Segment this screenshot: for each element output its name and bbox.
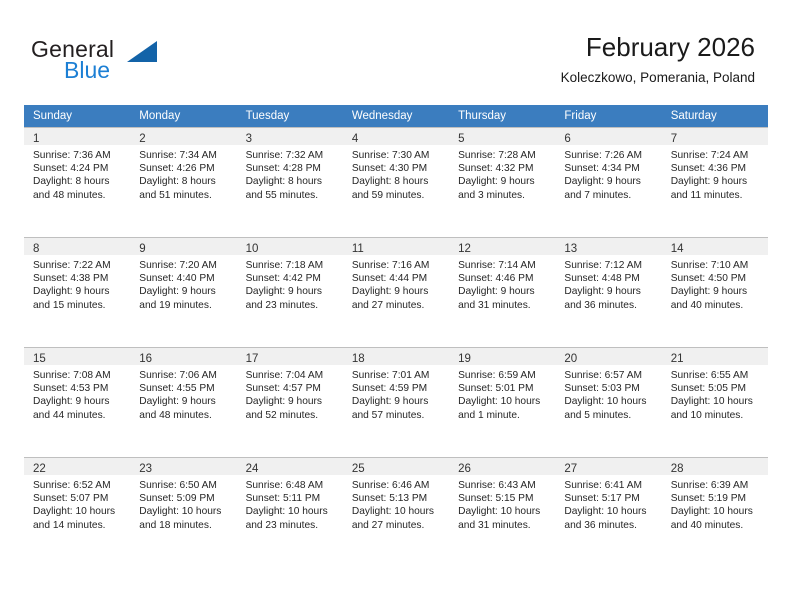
daylight-text-line1: Daylight: 9 hours (352, 395, 445, 408)
daylight-text-line1: Daylight: 9 hours (139, 285, 232, 298)
sunset-text: Sunset: 4:30 PM (352, 162, 445, 175)
daylight-text-line2: and 7 minutes. (564, 189, 657, 202)
sunset-text: Sunset: 4:36 PM (671, 162, 764, 175)
day-number: 23 (139, 463, 152, 475)
day-number: 16 (139, 353, 152, 365)
weekday-header-tuesday: Tuesday (237, 105, 343, 127)
day-number: 6 (564, 133, 570, 145)
day-number: 9 (139, 243, 145, 255)
sunset-text: Sunset: 4:53 PM (33, 382, 126, 395)
sunrise-text: Sunrise: 6:41 AM (564, 479, 657, 492)
sunset-text: Sunset: 4:48 PM (564, 272, 657, 285)
daylight-text-line1: Daylight: 10 hours (352, 505, 445, 518)
sunrise-text: Sunrise: 7:32 AM (246, 149, 339, 162)
sunset-text: Sunset: 4:40 PM (139, 272, 232, 285)
weekday-header-wednesday: Wednesday (343, 105, 449, 127)
weekday-header-monday: Monday (130, 105, 236, 127)
day-number: 8 (33, 243, 39, 255)
calendar-day-cell[interactable]: 21 Sunrise: 6:55 AM Sunset: 5:05 PM Dayl… (662, 347, 768, 445)
daylight-text-line2: and 44 minutes. (33, 409, 126, 422)
calendar-day-cell[interactable]: 14 Sunrise: 7:10 AM Sunset: 4:50 PM Dayl… (662, 237, 768, 335)
day-number: 5 (458, 133, 464, 145)
sunset-text: Sunset: 4:38 PM (33, 272, 126, 285)
calendar-week-row: 15 Sunrise: 7:08 AM Sunset: 4:53 PM Dayl… (24, 347, 768, 445)
calendar-day-cell[interactable]: 20 Sunrise: 6:57 AM Sunset: 5:03 PM Dayl… (555, 347, 661, 445)
sunrise-text: Sunrise: 6:59 AM (458, 369, 551, 382)
daylight-text-line2: and 36 minutes. (564, 519, 657, 532)
sunset-text: Sunset: 4:26 PM (139, 162, 232, 175)
sunset-text: Sunset: 5:01 PM (458, 382, 551, 395)
day-number: 3 (246, 133, 252, 145)
calendar-day-cell[interactable]: 8 Sunrise: 7:22 AM Sunset: 4:38 PM Dayli… (24, 237, 130, 335)
day-number: 2 (139, 133, 145, 145)
calendar-day-cell[interactable]: 7 Sunrise: 7:24 AM Sunset: 4:36 PM Dayli… (662, 127, 768, 225)
sunrise-text: Sunrise: 6:55 AM (671, 369, 764, 382)
calendar-page: General Blue February 2026 Koleczkowo, P… (0, 0, 792, 612)
week-spacer-row (24, 445, 768, 457)
sunrise-text: Sunrise: 7:34 AM (139, 149, 232, 162)
daylight-text-line2: and 48 minutes. (33, 189, 126, 202)
brand-name-blue: Blue (64, 57, 110, 84)
day-number: 22 (33, 463, 46, 475)
location-subtitle: Koleczkowo, Pomerania, Poland (561, 70, 755, 86)
sunrise-text: Sunrise: 6:57 AM (564, 369, 657, 382)
daylight-text-line1: Daylight: 10 hours (139, 505, 232, 518)
sunrise-text: Sunrise: 7:12 AM (564, 259, 657, 272)
day-number: 28 (671, 463, 684, 475)
daylight-text-line2: and 27 minutes. (352, 299, 445, 312)
calendar-week-row: 1 Sunrise: 7:36 AM Sunset: 4:24 PM Dayli… (24, 127, 768, 225)
calendar-day-cell[interactable]: 24 Sunrise: 6:48 AM Sunset: 5:11 PM Dayl… (237, 457, 343, 555)
daylight-text-line1: Daylight: 9 hours (564, 175, 657, 188)
sunrise-text: Sunrise: 7:06 AM (139, 369, 232, 382)
daylight-text-line2: and 52 minutes. (246, 409, 339, 422)
daylight-text-line1: Daylight: 8 hours (33, 175, 126, 188)
sunset-text: Sunset: 5:03 PM (564, 382, 657, 395)
week-spacer-row (24, 335, 768, 347)
sunset-text: Sunset: 4:57 PM (246, 382, 339, 395)
daylight-text-line2: and 48 minutes. (139, 409, 232, 422)
sunset-text: Sunset: 4:50 PM (671, 272, 764, 285)
sunset-text: Sunset: 5:19 PM (671, 492, 764, 505)
day-number: 17 (246, 353, 259, 365)
daylight-text-line1: Daylight: 10 hours (33, 505, 126, 518)
calendar-week-row: 22 Sunrise: 6:52 AM Sunset: 5:07 PM Dayl… (24, 457, 768, 555)
daylight-text-line2: and 11 minutes. (671, 189, 764, 202)
sunrise-text: Sunrise: 7:01 AM (352, 369, 445, 382)
daylight-text-line2: and 19 minutes. (139, 299, 232, 312)
sunset-text: Sunset: 4:55 PM (139, 382, 232, 395)
daylight-text-line2: and 57 minutes. (352, 409, 445, 422)
sunset-text: Sunset: 5:13 PM (352, 492, 445, 505)
daylight-text-line1: Daylight: 9 hours (671, 285, 764, 298)
sunrise-text: Sunrise: 7:36 AM (33, 149, 126, 162)
sunset-text: Sunset: 4:42 PM (246, 272, 339, 285)
day-number: 27 (564, 463, 577, 475)
day-number: 13 (564, 243, 577, 255)
day-number: 1 (33, 133, 39, 145)
sunset-text: Sunset: 5:17 PM (564, 492, 657, 505)
calendar-day-cell[interactable]: 1 Sunrise: 7:36 AM Sunset: 4:24 PM Dayli… (24, 127, 130, 225)
daylight-text-line2: and 1 minute. (458, 409, 551, 422)
daylight-text-line1: Daylight: 10 hours (671, 505, 764, 518)
daylight-text-line2: and 36 minutes. (564, 299, 657, 312)
daylight-text-line2: and 31 minutes. (458, 299, 551, 312)
daylight-text-line2: and 40 minutes. (671, 519, 764, 532)
calendar-day-cell[interactable]: 11 Sunrise: 7:16 AM Sunset: 4:44 PM Dayl… (343, 237, 449, 335)
title-block: February 2026 Koleczkowo, Pomerania, Pol… (561, 32, 755, 86)
daylight-text-line1: Daylight: 9 hours (33, 395, 126, 408)
sunrise-text: Sunrise: 7:08 AM (33, 369, 126, 382)
sunset-text: Sunset: 4:44 PM (352, 272, 445, 285)
daylight-text-line2: and 51 minutes. (139, 189, 232, 202)
weekday-header-friday: Friday (555, 105, 661, 127)
sunset-text: Sunset: 5:15 PM (458, 492, 551, 505)
daylight-text-line1: Daylight: 10 hours (458, 505, 551, 518)
daylight-text-line1: Daylight: 9 hours (671, 175, 764, 188)
daylight-text-line2: and 23 minutes. (246, 519, 339, 532)
sunrise-text: Sunrise: 7:22 AM (33, 259, 126, 272)
daylight-text-line1: Daylight: 8 hours (352, 175, 445, 188)
sunrise-text: Sunrise: 6:43 AM (458, 479, 551, 492)
daylight-text-line2: and 59 minutes. (352, 189, 445, 202)
day-number: 26 (458, 463, 471, 475)
weekday-header-thursday: Thursday (449, 105, 555, 127)
calendar-day-cell[interactable]: 3 Sunrise: 7:32 AM Sunset: 4:28 PM Dayli… (237, 127, 343, 225)
triangle-icon (127, 41, 157, 62)
daylight-text-line1: Daylight: 9 hours (564, 285, 657, 298)
day-number: 19 (458, 353, 471, 365)
day-number: 14 (671, 243, 684, 255)
daylight-text-line1: Daylight: 9 hours (33, 285, 126, 298)
daylight-text-line1: Daylight: 9 hours (458, 285, 551, 298)
daylight-text-line2: and 14 minutes. (33, 519, 126, 532)
daylight-text-line2: and 5 minutes. (564, 409, 657, 422)
day-number: 7 (671, 133, 677, 145)
daylight-text-line1: Daylight: 9 hours (352, 285, 445, 298)
sunset-text: Sunset: 5:09 PM (139, 492, 232, 505)
sunrise-text: Sunrise: 7:20 AM (139, 259, 232, 272)
calendar-day-cell[interactable]: 28 Sunrise: 6:39 AM Sunset: 5:19 PM Dayl… (662, 457, 768, 555)
calendar-day-cell[interactable]: 23 Sunrise: 6:50 AM Sunset: 5:09 PM Dayl… (130, 457, 236, 555)
sunrise-text: Sunrise: 7:24 AM (671, 149, 764, 162)
sunrise-text: Sunrise: 6:48 AM (246, 479, 339, 492)
daylight-text-line1: Daylight: 10 hours (564, 395, 657, 408)
day-number: 12 (458, 243, 471, 255)
calendar-day-cell[interactable]: 16 Sunrise: 7:06 AM Sunset: 4:55 PM Dayl… (130, 347, 236, 445)
week-spacer (24, 335, 768, 347)
calendar-day-cell[interactable]: 26 Sunrise: 6:43 AM Sunset: 5:15 PM Dayl… (449, 457, 555, 555)
day-number: 4 (352, 133, 358, 145)
calendar-day-cell[interactable]: 17 Sunrise: 7:04 AM Sunset: 4:57 PM Dayl… (237, 347, 343, 445)
sunrise-text: Sunrise: 7:16 AM (352, 259, 445, 272)
daylight-text-line2: and 18 minutes. (139, 519, 232, 532)
sunrise-text: Sunrise: 7:14 AM (458, 259, 551, 272)
daylight-text-line2: and 10 minutes. (671, 409, 764, 422)
day-number: 20 (564, 353, 577, 365)
sunrise-text: Sunrise: 6:39 AM (671, 479, 764, 492)
sunset-text: Sunset: 4:46 PM (458, 272, 551, 285)
calendar-day-cell[interactable]: 10 Sunrise: 7:18 AM Sunset: 4:42 PM Dayl… (237, 237, 343, 335)
daylight-text-line1: Daylight: 10 hours (564, 505, 657, 518)
sunset-text: Sunset: 4:34 PM (564, 162, 657, 175)
daylight-text-line2: and 27 minutes. (352, 519, 445, 532)
calendar-week-row: 8 Sunrise: 7:22 AM Sunset: 4:38 PM Dayli… (24, 237, 768, 335)
calendar-day-cell[interactable]: 6 Sunrise: 7:26 AM Sunset: 4:34 PM Dayli… (555, 127, 661, 225)
week-spacer (24, 225, 768, 237)
sunset-text: Sunset: 4:24 PM (33, 162, 126, 175)
day-number: 21 (671, 353, 684, 365)
daylight-text-line1: Daylight: 10 hours (671, 395, 764, 408)
calendar-day-cell[interactable]: 5 Sunrise: 7:28 AM Sunset: 4:32 PM Dayli… (449, 127, 555, 225)
daylight-text-line2: and 3 minutes. (458, 189, 551, 202)
weekday-header-row: Sunday Monday Tuesday Wednesday Thursday… (24, 105, 768, 127)
calendar-day-cell[interactable]: 9 Sunrise: 7:20 AM Sunset: 4:40 PM Dayli… (130, 237, 236, 335)
sunrise-text: Sunrise: 6:46 AM (352, 479, 445, 492)
daylight-text-line1: Daylight: 8 hours (139, 175, 232, 188)
page-title: February 2026 (561, 32, 755, 62)
daylight-text-line2: and 40 minutes. (671, 299, 764, 312)
calendar-day-cell[interactable]: 13 Sunrise: 7:12 AM Sunset: 4:48 PM Dayl… (555, 237, 661, 335)
daylight-text-line2: and 55 minutes. (246, 189, 339, 202)
daylight-text-line2: and 31 minutes. (458, 519, 551, 532)
calendar-table: Sunday Monday Tuesday Wednesday Thursday… (24, 105, 768, 555)
sunrise-text: Sunrise: 6:50 AM (139, 479, 232, 492)
sunset-text: Sunset: 5:07 PM (33, 492, 126, 505)
week-spacer (24, 445, 768, 457)
daylight-text-line1: Daylight: 9 hours (139, 395, 232, 408)
daylight-text-line1: Daylight: 10 hours (246, 505, 339, 518)
brand-logo[interactable]: General Blue (31, 36, 231, 88)
sunset-text: Sunset: 4:28 PM (246, 162, 339, 175)
daylight-text-line1: Daylight: 9 hours (458, 175, 551, 188)
sunset-text: Sunset: 4:32 PM (458, 162, 551, 175)
calendar-day-cell[interactable]: 27 Sunrise: 6:41 AM Sunset: 5:17 PM Dayl… (555, 457, 661, 555)
week-spacer-row (24, 225, 768, 237)
sunset-text: Sunset: 5:05 PM (671, 382, 764, 395)
weekday-header-saturday: Saturday (662, 105, 768, 127)
day-number: 10 (246, 243, 259, 255)
calendar-day-cell[interactable]: 12 Sunrise: 7:14 AM Sunset: 4:46 PM Dayl… (449, 237, 555, 335)
weekday-header-sunday: Sunday (24, 105, 130, 127)
day-number: 15 (33, 353, 46, 365)
sunrise-text: Sunrise: 7:28 AM (458, 149, 551, 162)
day-number: 24 (246, 463, 259, 475)
daylight-text-line1: Daylight: 8 hours (246, 175, 339, 188)
sunset-text: Sunset: 4:59 PM (352, 382, 445, 395)
daylight-text-line2: and 15 minutes. (33, 299, 126, 312)
page-header: General Blue February 2026 Koleczkowo, P… (0, 0, 792, 104)
calendar-day-cell[interactable]: 4 Sunrise: 7:30 AM Sunset: 4:30 PM Dayli… (343, 127, 449, 225)
calendar-day-cell[interactable]: 19 Sunrise: 6:59 AM Sunset: 5:01 PM Dayl… (449, 347, 555, 445)
day-number: 25 (352, 463, 365, 475)
daylight-text-line1: Daylight: 10 hours (458, 395, 551, 408)
daylight-text-line1: Daylight: 9 hours (246, 395, 339, 408)
calendar-day-cell[interactable]: 15 Sunrise: 7:08 AM Sunset: 4:53 PM Dayl… (24, 347, 130, 445)
daylight-text-line2: and 23 minutes. (246, 299, 339, 312)
sunrise-text: Sunrise: 7:30 AM (352, 149, 445, 162)
sunrise-text: Sunrise: 7:18 AM (246, 259, 339, 272)
calendar-day-cell[interactable]: 2 Sunrise: 7:34 AM Sunset: 4:26 PM Dayli… (130, 127, 236, 225)
sunrise-text: Sunrise: 7:10 AM (671, 259, 764, 272)
sunrise-text: Sunrise: 7:04 AM (246, 369, 339, 382)
calendar-day-cell[interactable]: 25 Sunrise: 6:46 AM Sunset: 5:13 PM Dayl… (343, 457, 449, 555)
calendar-body: 1 Sunrise: 7:36 AM Sunset: 4:24 PM Dayli… (24, 127, 768, 555)
calendar-day-cell[interactable]: 18 Sunrise: 7:01 AM Sunset: 4:59 PM Dayl… (343, 347, 449, 445)
sunset-text: Sunset: 5:11 PM (246, 492, 339, 505)
day-number: 18 (352, 353, 365, 365)
daylight-text-line1: Daylight: 9 hours (246, 285, 339, 298)
calendar-day-cell[interactable]: 22 Sunrise: 6:52 AM Sunset: 5:07 PM Dayl… (24, 457, 130, 555)
sunrise-text: Sunrise: 7:26 AM (564, 149, 657, 162)
day-number: 11 (352, 243, 364, 255)
sunrise-text: Sunrise: 6:52 AM (33, 479, 126, 492)
